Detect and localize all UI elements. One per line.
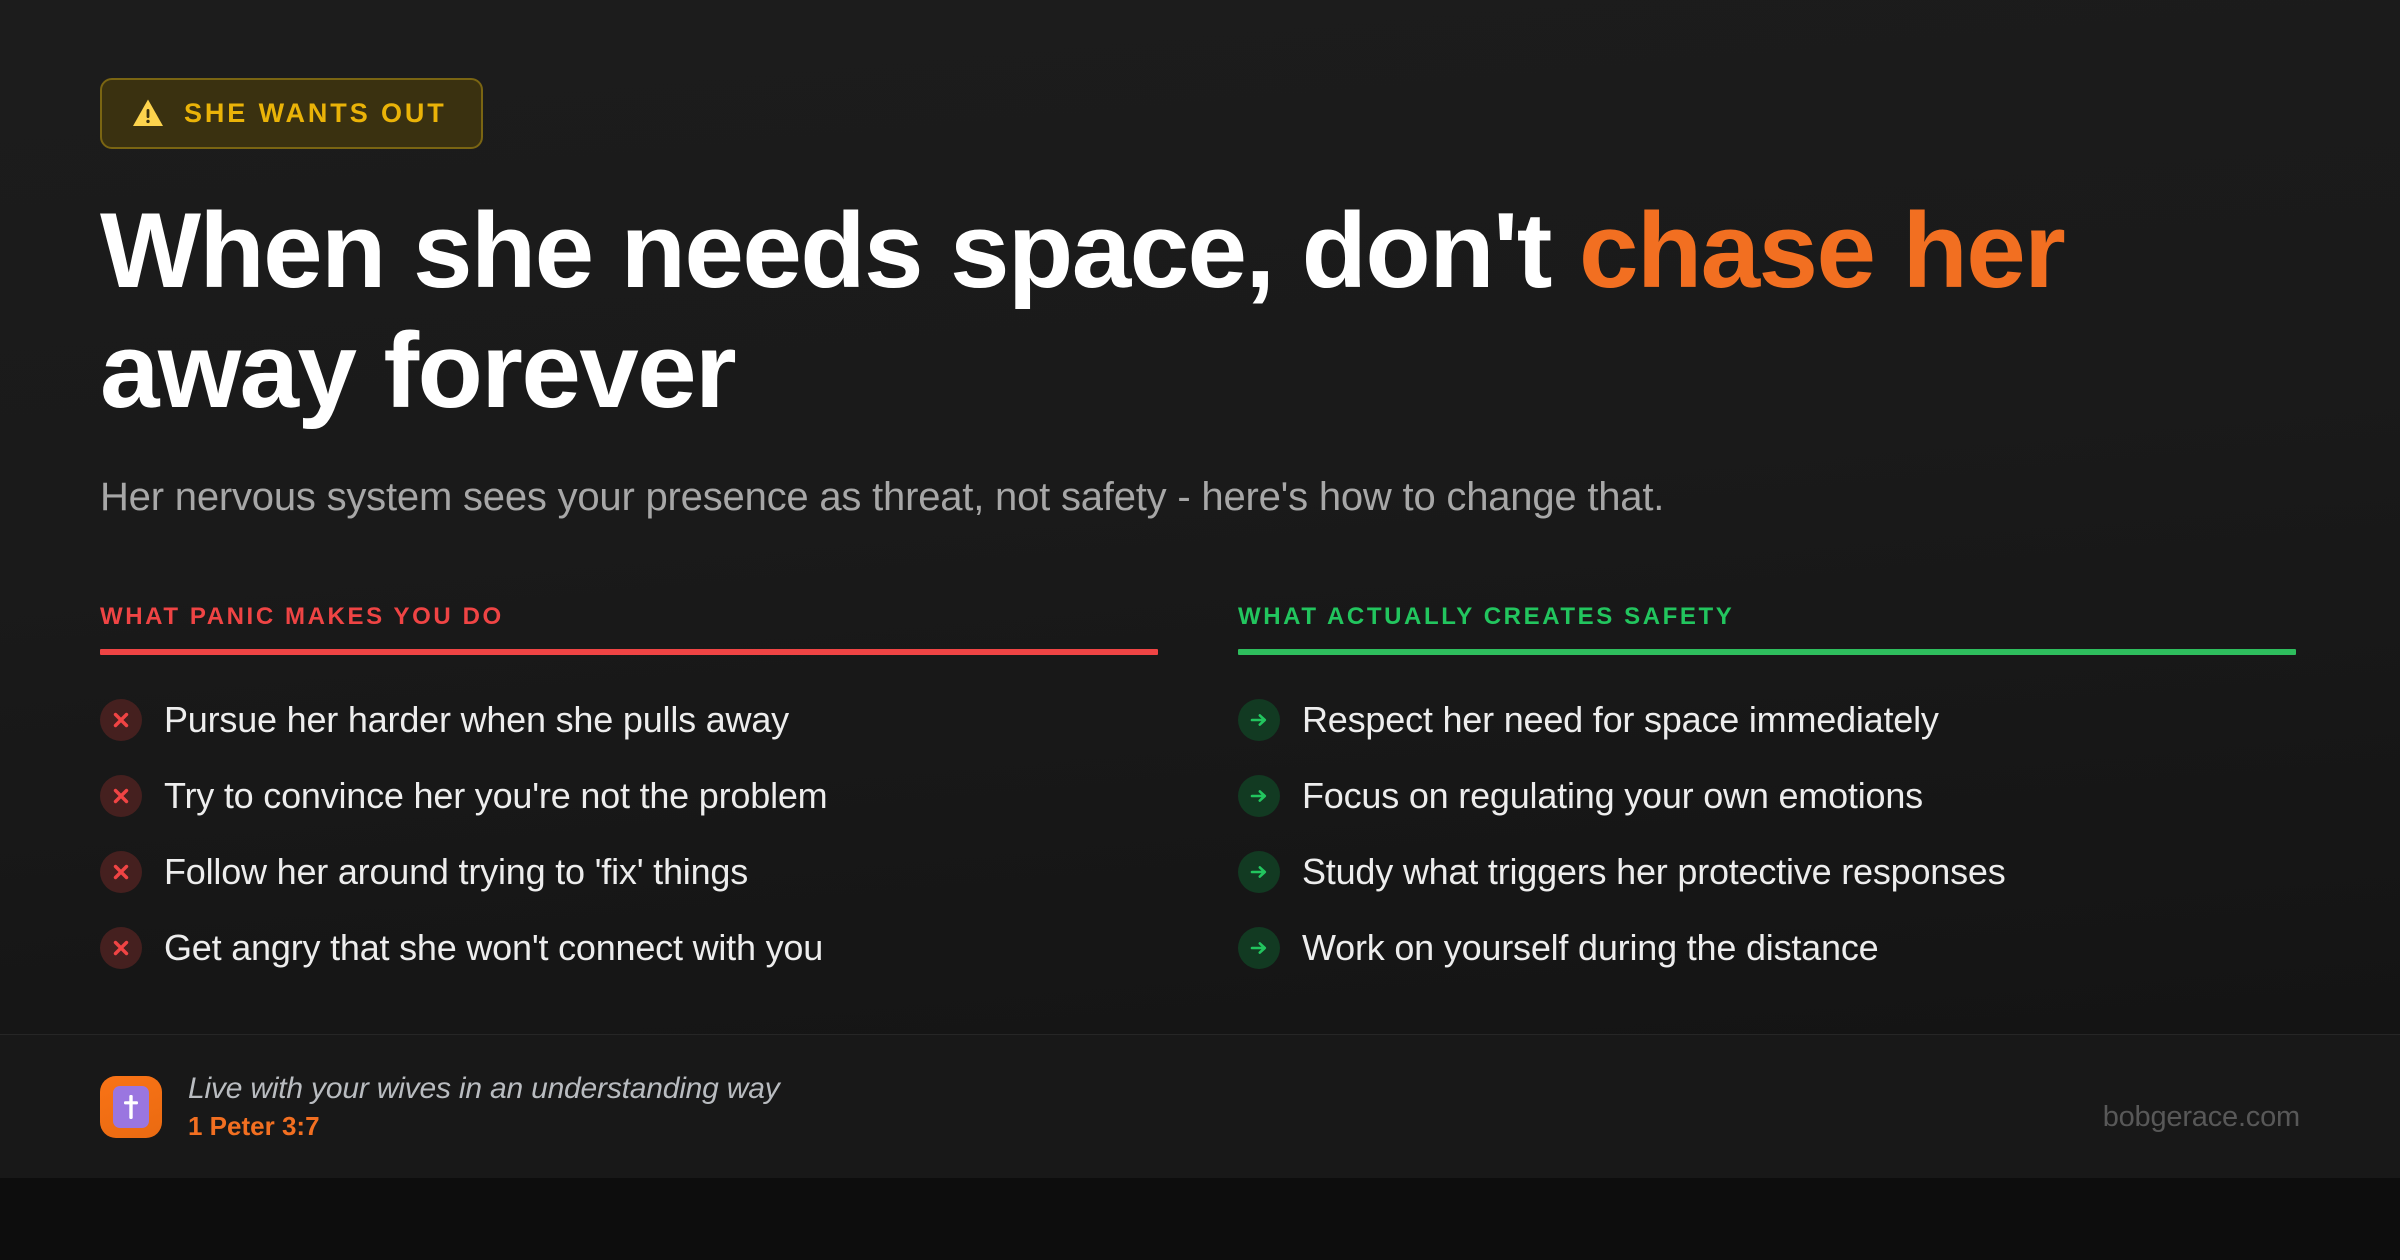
scripture-text: Live with your wives in an understanding… xyxy=(188,1072,780,1141)
list-item[interactable]: Pursue her harder when she pulls away xyxy=(100,682,1158,758)
slide-root: SHE WANTS OUT When she needs space, don'… xyxy=(0,0,2400,1260)
headline-accent: chase her xyxy=(1579,190,2064,310)
cross-icon xyxy=(100,1076,162,1138)
list-item-label: Pursue her harder when she pulls away xyxy=(164,702,789,738)
arrow-right-circle-icon xyxy=(1238,851,1280,893)
content-area: SHE WANTS OUT When she needs space, don'… xyxy=(0,0,2400,1034)
list-item[interactable]: Focus on regulating your own emotions xyxy=(1238,758,2296,834)
x-circle-icon xyxy=(100,851,142,893)
list-item-label: Work on yourself during the distance xyxy=(1302,930,1878,966)
scripture-reference: 1 Peter 3:7 xyxy=(188,1112,780,1141)
list-item[interactable]: Work on yourself during the distance xyxy=(1238,910,2296,986)
headline-part-1: When she needs space, don't xyxy=(100,190,1579,310)
x-circle-icon xyxy=(100,699,142,741)
list-item[interactable]: Follow her around trying to 'fix' things xyxy=(100,834,1158,910)
list-item[interactable]: Get angry that she won't connect with yo… xyxy=(100,910,1158,986)
page-title: When she needs space, don't chase her aw… xyxy=(100,191,2280,431)
footer-bar: Live with your wives in an understanding… xyxy=(0,1034,2400,1178)
arrow-right-circle-icon xyxy=(1238,699,1280,741)
list-item[interactable]: Study what triggers her protective respo… xyxy=(1238,834,2296,910)
column-panic: WHAT PANIC MAKES YOU DO Pursue her harde… xyxy=(100,605,1158,986)
page-subtitle: Her nervous system sees your presence as… xyxy=(100,471,2300,523)
status-badge-label: SHE WANTS OUT xyxy=(184,100,447,127)
column-panic-title: WHAT PANIC MAKES YOU DO xyxy=(100,605,1158,649)
list-item-label: Get angry that she won't connect with yo… xyxy=(164,930,823,966)
column-safety: WHAT ACTUALLY CREATES SAFETY Respect her… xyxy=(1238,605,2296,986)
list-item-label: Follow her around trying to 'fix' things xyxy=(164,854,748,890)
headline-part-2: away forever xyxy=(100,310,735,430)
arrow-right-circle-icon xyxy=(1238,927,1280,969)
scripture-block: Live with your wives in an understanding… xyxy=(100,1072,780,1141)
list-item-label: Try to convince her you're not the probl… xyxy=(164,778,827,814)
list-item-label: Study what triggers her protective respo… xyxy=(1302,854,2006,890)
column-safety-list: Respect her need for space immediately F… xyxy=(1238,682,2296,986)
column-panic-list: Pursue her harder when she pulls away Tr… xyxy=(100,682,1158,986)
comparison-columns: WHAT PANIC MAKES YOU DO Pursue her harde… xyxy=(100,605,2300,986)
bottom-strip xyxy=(0,1178,2400,1260)
cross-icon-plate xyxy=(113,1086,149,1128)
list-item-label: Respect her need for space immediately xyxy=(1302,702,1939,738)
warning-triangle-icon xyxy=(132,98,164,128)
list-item-label: Focus on regulating your own emotions xyxy=(1302,778,1923,814)
list-item[interactable]: Respect her need for space immediately xyxy=(1238,682,2296,758)
arrow-right-circle-icon xyxy=(1238,775,1280,817)
column-panic-rule xyxy=(100,649,1158,655)
site-url: bobgerace.com xyxy=(2103,1101,2300,1134)
list-item[interactable]: Try to convince her you're not the probl… xyxy=(100,758,1158,834)
column-safety-title: WHAT ACTUALLY CREATES SAFETY xyxy=(1238,605,2296,649)
column-safety-rule xyxy=(1238,649,2296,655)
scripture-quote: Live with your wives in an understanding… xyxy=(188,1072,780,1105)
status-badge[interactable]: SHE WANTS OUT xyxy=(100,78,483,149)
x-circle-icon xyxy=(100,775,142,817)
x-circle-icon xyxy=(100,927,142,969)
